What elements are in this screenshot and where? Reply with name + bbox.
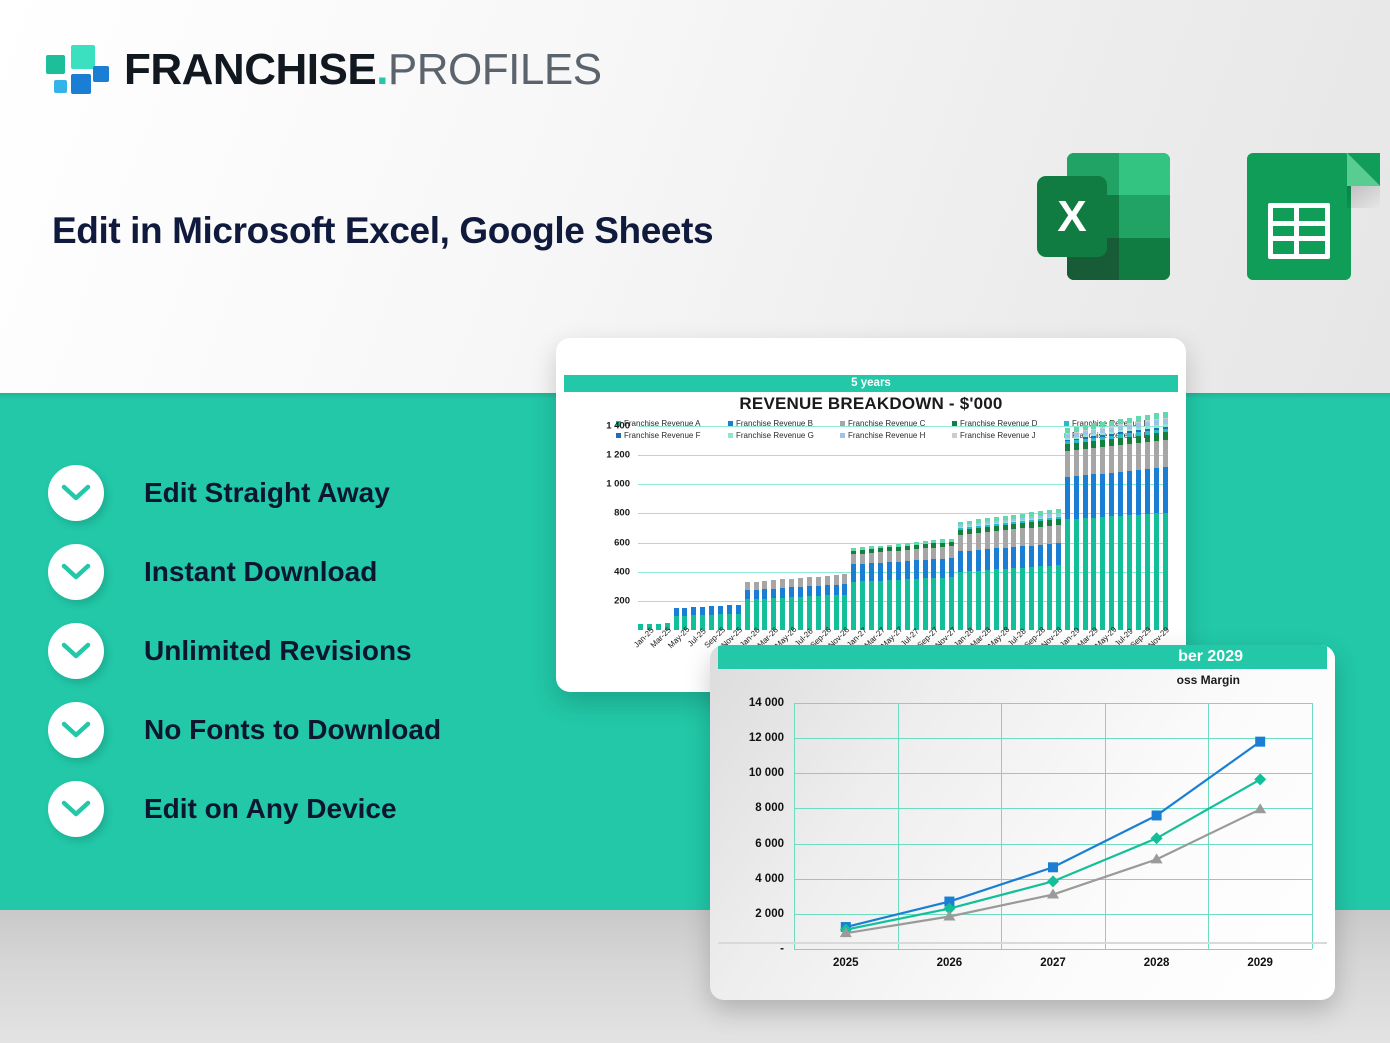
bar	[656, 624, 661, 630]
bar	[949, 539, 954, 630]
bar-segment	[771, 580, 776, 588]
bar	[914, 542, 919, 630]
feature-item[interactable]: Unlimited Revisions	[48, 621, 441, 681]
bar	[780, 579, 785, 630]
bar-segment	[1020, 568, 1025, 630]
bar	[1074, 427, 1079, 630]
y-tick-label: 1 200	[590, 450, 630, 461]
revenue-chart-y-axis: 1 4001 2001 000800600400200	[594, 426, 634, 630]
bar-segment	[736, 605, 741, 614]
bar-segment	[1056, 525, 1061, 543]
bar-segment	[1083, 449, 1088, 476]
bar-segment	[691, 615, 696, 630]
bar-segment	[1109, 446, 1114, 473]
feature-item[interactable]: Edit Straight Away	[48, 463, 441, 523]
bar-segment	[1065, 477, 1070, 519]
bar-segment	[869, 581, 874, 630]
bar-segment	[1109, 439, 1114, 446]
bar	[1065, 428, 1070, 630]
bar-segment	[816, 586, 821, 596]
bar-segment	[1029, 528, 1034, 546]
bar-segment	[887, 562, 892, 580]
bar-segment	[1020, 528, 1025, 546]
bar-segment	[1100, 440, 1105, 447]
bar-segment	[745, 590, 750, 599]
x-tick: Jul-25	[691, 632, 696, 690]
logo-text-thin: PROFILES	[388, 45, 602, 94]
bar-segment	[1065, 451, 1070, 477]
bar	[985, 518, 990, 630]
bar-segment	[958, 551, 963, 571]
bar	[638, 624, 643, 630]
bar	[958, 522, 963, 631]
bar-segment	[1038, 545, 1043, 567]
bar-segment	[958, 535, 963, 552]
bar-segment	[994, 569, 999, 630]
bar-segment	[1074, 450, 1079, 476]
bar	[1154, 413, 1159, 630]
bar-segment	[1047, 526, 1052, 544]
bar-segment	[1163, 513, 1168, 630]
series-line	[846, 742, 1260, 927]
bar-segment	[1127, 515, 1132, 630]
feature-item[interactable]: No Fonts to Download	[48, 700, 441, 760]
gross-margin-x-axis: 20252026202720282029	[794, 957, 1312, 969]
feature-item[interactable]: Instant Download	[48, 542, 441, 602]
bar-segment	[780, 598, 785, 630]
bar	[745, 582, 750, 630]
bar-segment	[718, 606, 723, 615]
bar-segment	[1145, 514, 1150, 630]
bar	[816, 577, 821, 630]
bar	[1127, 418, 1132, 630]
series-marker	[1151, 832, 1163, 844]
bar-segment	[1145, 435, 1150, 442]
revenue-chart-plot: 1 4001 2001 000800600400200 Jan-25Mar-25…	[594, 426, 1168, 668]
bar	[923, 541, 928, 630]
gridline	[794, 949, 1312, 950]
bar-segment	[1083, 518, 1088, 630]
bar-segment	[869, 563, 874, 581]
bar-segment	[940, 547, 945, 559]
gross-margin-banner: ber 2029	[718, 645, 1327, 669]
bar-segment	[825, 576, 830, 585]
bar-segment	[754, 590, 759, 599]
bar	[1145, 415, 1150, 630]
bar-segment	[638, 624, 643, 630]
bar	[1136, 416, 1141, 630]
logo-text-dot: .	[376, 45, 388, 94]
bar-segment	[709, 615, 714, 630]
logo-text-bold: FRANCHISE	[124, 45, 376, 94]
bar-segment	[816, 596, 821, 630]
bar-segment	[656, 624, 661, 630]
bar	[887, 545, 892, 631]
bar-segment	[1100, 447, 1105, 474]
bar	[1011, 515, 1016, 631]
revenue-chart-title: REVENUE BREAKDOWN - $'000	[556, 394, 1186, 414]
bar	[798, 578, 803, 630]
x-tick: May-25	[674, 632, 679, 690]
bar-segment	[869, 553, 874, 563]
y-tick-label: 10 000	[718, 767, 784, 779]
bar	[1038, 511, 1043, 630]
bar-segment	[940, 578, 945, 630]
bar-segment	[1100, 517, 1105, 630]
logo-wordmark: FRANCHISE.PROFILES	[124, 48, 602, 92]
bar	[1163, 412, 1168, 630]
excel-x-glyph: X	[1037, 176, 1107, 257]
page-title: Edit in Microsoft Excel, Google Sheets	[52, 210, 713, 252]
bar-segment	[771, 589, 776, 598]
bar-segment	[1154, 441, 1159, 469]
y-tick-label: 800	[590, 508, 630, 519]
bar-segment	[1003, 569, 1008, 630]
bar-segment	[700, 607, 705, 615]
bar	[860, 547, 865, 630]
bar	[967, 521, 972, 630]
x-tick: Jan-25	[638, 632, 643, 690]
bar-segment	[967, 571, 972, 630]
bar-segment	[762, 599, 767, 630]
series-marker	[1254, 773, 1266, 785]
bar-segment	[923, 578, 928, 630]
x-tick-label: 2025	[794, 957, 898, 969]
bar	[1047, 510, 1052, 630]
y-tick-label: 14 000	[718, 697, 784, 709]
bar-segment	[1011, 529, 1016, 547]
series-marker	[1048, 862, 1058, 872]
bar-segment	[745, 599, 750, 630]
bar-segment	[1020, 546, 1025, 567]
bar-segment	[825, 585, 830, 595]
bar-segment	[896, 562, 901, 580]
bar-segment	[1154, 513, 1159, 630]
series-marker	[1254, 803, 1266, 813]
gross-margin-subtitle: oss Margin	[710, 673, 1335, 687]
bar-segment	[1091, 518, 1096, 630]
logo-squares-icon	[46, 44, 108, 96]
bar-segment	[691, 607, 696, 615]
revenue-breakdown-card[interactable]: 5 years REVENUE BREAKDOWN - $'000 Franch…	[556, 338, 1186, 692]
bar-segment	[674, 608, 679, 616]
bar-segment	[1118, 472, 1123, 516]
bar-segment	[1011, 568, 1016, 630]
y-tick-label: 200	[590, 595, 630, 606]
bar-segment	[1136, 443, 1141, 470]
gross-margin-series	[794, 703, 1312, 949]
feature-label: Instant Download	[144, 556, 377, 588]
bar-segment	[1065, 519, 1070, 630]
bar-segment	[842, 574, 847, 584]
bar-segment	[931, 578, 936, 630]
bar	[691, 607, 696, 630]
bar	[1118, 419, 1123, 630]
bar	[878, 546, 883, 630]
bar-segment	[807, 586, 812, 596]
bar	[709, 606, 714, 630]
bar-segment	[798, 587, 803, 597]
bar-segment	[949, 577, 954, 630]
bar-segment	[682, 608, 687, 616]
bar	[896, 544, 901, 630]
bar	[674, 608, 679, 630]
bar-segment	[1163, 467, 1168, 512]
feature-list: Edit Straight Away Instant Download Unli…	[48, 463, 441, 858]
bar-segment	[914, 549, 919, 560]
bar-segment	[1011, 547, 1016, 568]
bar-segment	[798, 597, 803, 630]
gridline-vertical	[1312, 703, 1313, 949]
bar-segment	[896, 580, 901, 630]
y-tick-label: 6 000	[718, 838, 784, 850]
bar	[869, 546, 874, 630]
chevron-down-icon	[48, 623, 104, 679]
bar-segment	[860, 554, 865, 564]
series-line	[846, 779, 1260, 929]
bar-segment	[931, 559, 936, 578]
bar-segment	[1100, 474, 1105, 517]
bar-segment	[878, 581, 883, 630]
chevron-down-icon	[48, 781, 104, 837]
bar	[762, 581, 767, 630]
bar-segment	[762, 581, 767, 589]
bar	[754, 582, 759, 630]
y-tick-label: 1 400	[590, 421, 630, 432]
bar-segment	[1145, 442, 1150, 470]
bar	[727, 605, 732, 630]
x-tick: Mar-25	[656, 632, 661, 690]
series-marker	[1152, 810, 1162, 820]
bar	[976, 519, 981, 630]
bar-segment	[834, 595, 839, 630]
bar	[1003, 516, 1008, 630]
bar-segment	[780, 588, 785, 598]
bar-segment	[1003, 530, 1008, 547]
bar-segment	[789, 587, 794, 597]
bar-segment	[1091, 474, 1096, 517]
bar-segment	[905, 550, 910, 561]
x-tick-label: 2027	[1001, 957, 1105, 969]
chevron-down-icon	[48, 544, 104, 600]
bar-segment	[985, 549, 990, 570]
bar-segment	[1038, 566, 1043, 630]
x-tick-label: 2028	[1105, 957, 1209, 969]
bar	[994, 517, 999, 630]
bar	[1100, 422, 1105, 630]
chevron-down-icon	[48, 465, 104, 521]
bar-segment	[727, 605, 732, 614]
y-tick-label: 1 000	[590, 479, 630, 490]
bar-segment	[1091, 448, 1096, 475]
bar-segment	[1118, 445, 1123, 472]
bar-segment	[851, 554, 856, 564]
bar-segment	[1047, 566, 1052, 630]
bar-segment	[1145, 469, 1150, 514]
bar	[834, 575, 839, 630]
brand-logo[interactable]: FRANCHISE.PROFILES	[46, 44, 602, 96]
bar	[851, 548, 856, 630]
bar	[1029, 512, 1034, 630]
bar-segment	[860, 564, 865, 582]
bar-segment	[727, 614, 732, 630]
bar-segment	[1029, 546, 1034, 568]
bar	[789, 579, 794, 630]
bar	[1091, 423, 1096, 630]
bar	[1083, 425, 1088, 630]
bar-segment	[940, 559, 945, 578]
y-tick-label: 600	[590, 537, 630, 548]
bar	[807, 577, 812, 630]
bar-segment	[1127, 471, 1132, 515]
bar-segment	[674, 616, 679, 630]
bar-segment	[842, 584, 847, 595]
bar-segment	[949, 558, 954, 577]
bar-segment	[1074, 519, 1079, 630]
bar	[940, 539, 945, 630]
revenue-chart-banner: 5 years	[564, 375, 1178, 392]
y-tick-label: 4 000	[718, 873, 784, 885]
bar-segment	[1118, 438, 1123, 445]
bar-segment	[1127, 437, 1132, 444]
bar-segment	[851, 564, 856, 581]
google-sheets-icon[interactable]	[1247, 153, 1380, 280]
bar-segment	[807, 577, 812, 586]
bar	[825, 576, 830, 630]
revenue-chart-bars	[638, 426, 1168, 630]
bar-segment	[745, 582, 750, 590]
bar-segment	[1118, 516, 1123, 630]
y-tick-label: -	[718, 943, 784, 955]
bar	[931, 540, 936, 630]
bar-segment	[1003, 548, 1008, 569]
bar-segment	[780, 579, 785, 588]
bar-segment	[878, 563, 883, 581]
bar-segment	[1047, 544, 1052, 566]
feature-label: No Fonts to Download	[144, 714, 441, 746]
series-marker	[1047, 875, 1059, 887]
bar-segment	[754, 582, 759, 590]
bar	[842, 574, 847, 630]
feature-label: Edit Straight Away	[144, 477, 390, 509]
bar-segment	[994, 548, 999, 569]
bar-segment	[914, 560, 919, 579]
bar-segment	[896, 551, 901, 562]
bar-segment	[931, 548, 936, 560]
bar-segment	[709, 606, 714, 615]
bar-segment	[1083, 475, 1088, 518]
x-tick-label: 2026	[898, 957, 1002, 969]
chevron-down-icon	[48, 702, 104, 758]
bar-segment	[807, 596, 812, 630]
bar	[1020, 514, 1025, 630]
bar-segment	[1127, 444, 1132, 471]
bar-segment	[905, 579, 910, 630]
app-icons-group: X	[1037, 153, 1380, 280]
gross-margin-plot: 14 00012 00010 0008 0006 0004 0002 000- …	[718, 695, 1327, 995]
bar-segment	[860, 581, 865, 630]
bar-segment	[923, 560, 928, 579]
bar-segment	[923, 548, 928, 559]
bar-segment	[985, 570, 990, 630]
bar-segment	[1154, 433, 1159, 440]
bar	[771, 580, 776, 630]
series-marker	[1255, 737, 1265, 747]
bar-segment	[1136, 436, 1141, 443]
bar-segment	[976, 571, 981, 630]
bar-segment	[789, 579, 794, 588]
x-tick-label: 2029	[1208, 957, 1312, 969]
feature-label: Unlimited Revisions	[144, 635, 412, 667]
bar-segment	[798, 578, 803, 587]
bar-segment	[914, 579, 919, 630]
bar	[905, 543, 910, 630]
bar-segment	[985, 532, 990, 549]
bar-segment	[1029, 567, 1034, 630]
y-tick-label: 8 000	[718, 802, 784, 814]
bar-segment	[976, 533, 981, 550]
feature-item[interactable]: Edit on Any Device	[48, 779, 441, 839]
bar-segment	[967, 551, 972, 572]
bar-segment	[887, 580, 892, 630]
bar-segment	[967, 534, 972, 551]
y-tick-label: 12 000	[718, 732, 784, 744]
bar-segment	[905, 561, 910, 579]
bar-segment	[851, 582, 856, 630]
bar	[1056, 509, 1061, 630]
bar-segment	[762, 589, 767, 598]
gross-margin-baseline	[718, 942, 1327, 944]
bar-segment	[1136, 470, 1141, 515]
bar-segment	[834, 575, 839, 584]
bar-segment	[1056, 565, 1061, 630]
bar-segment	[1038, 527, 1043, 545]
bar-segment	[878, 552, 883, 563]
bar-segment	[887, 551, 892, 562]
bar-segment	[1109, 516, 1114, 630]
bar-segment	[976, 550, 981, 571]
y-tick-label: 400	[590, 566, 630, 577]
bar-segment	[1163, 432, 1168, 439]
gross-margin-card[interactable]: ber 2029 oss Margin 14 00012 00010 0008 …	[710, 645, 1335, 1000]
feature-label: Edit on Any Device	[144, 793, 397, 825]
bar-segment	[1074, 476, 1079, 519]
bar-segment	[834, 585, 839, 595]
bar-segment	[1163, 440, 1168, 468]
microsoft-excel-icon[interactable]: X	[1037, 153, 1170, 280]
bar-segment	[949, 546, 954, 558]
bar-segment	[1056, 543, 1061, 565]
y-tick-label: 2 000	[718, 908, 784, 920]
bar-segment	[1136, 515, 1141, 630]
bar-segment	[816, 577, 821, 586]
bar-segment	[958, 572, 963, 630]
bar-segment	[1109, 473, 1114, 517]
bar-segment	[1154, 468, 1159, 513]
bar	[1109, 421, 1114, 630]
bar-segment	[994, 531, 999, 548]
